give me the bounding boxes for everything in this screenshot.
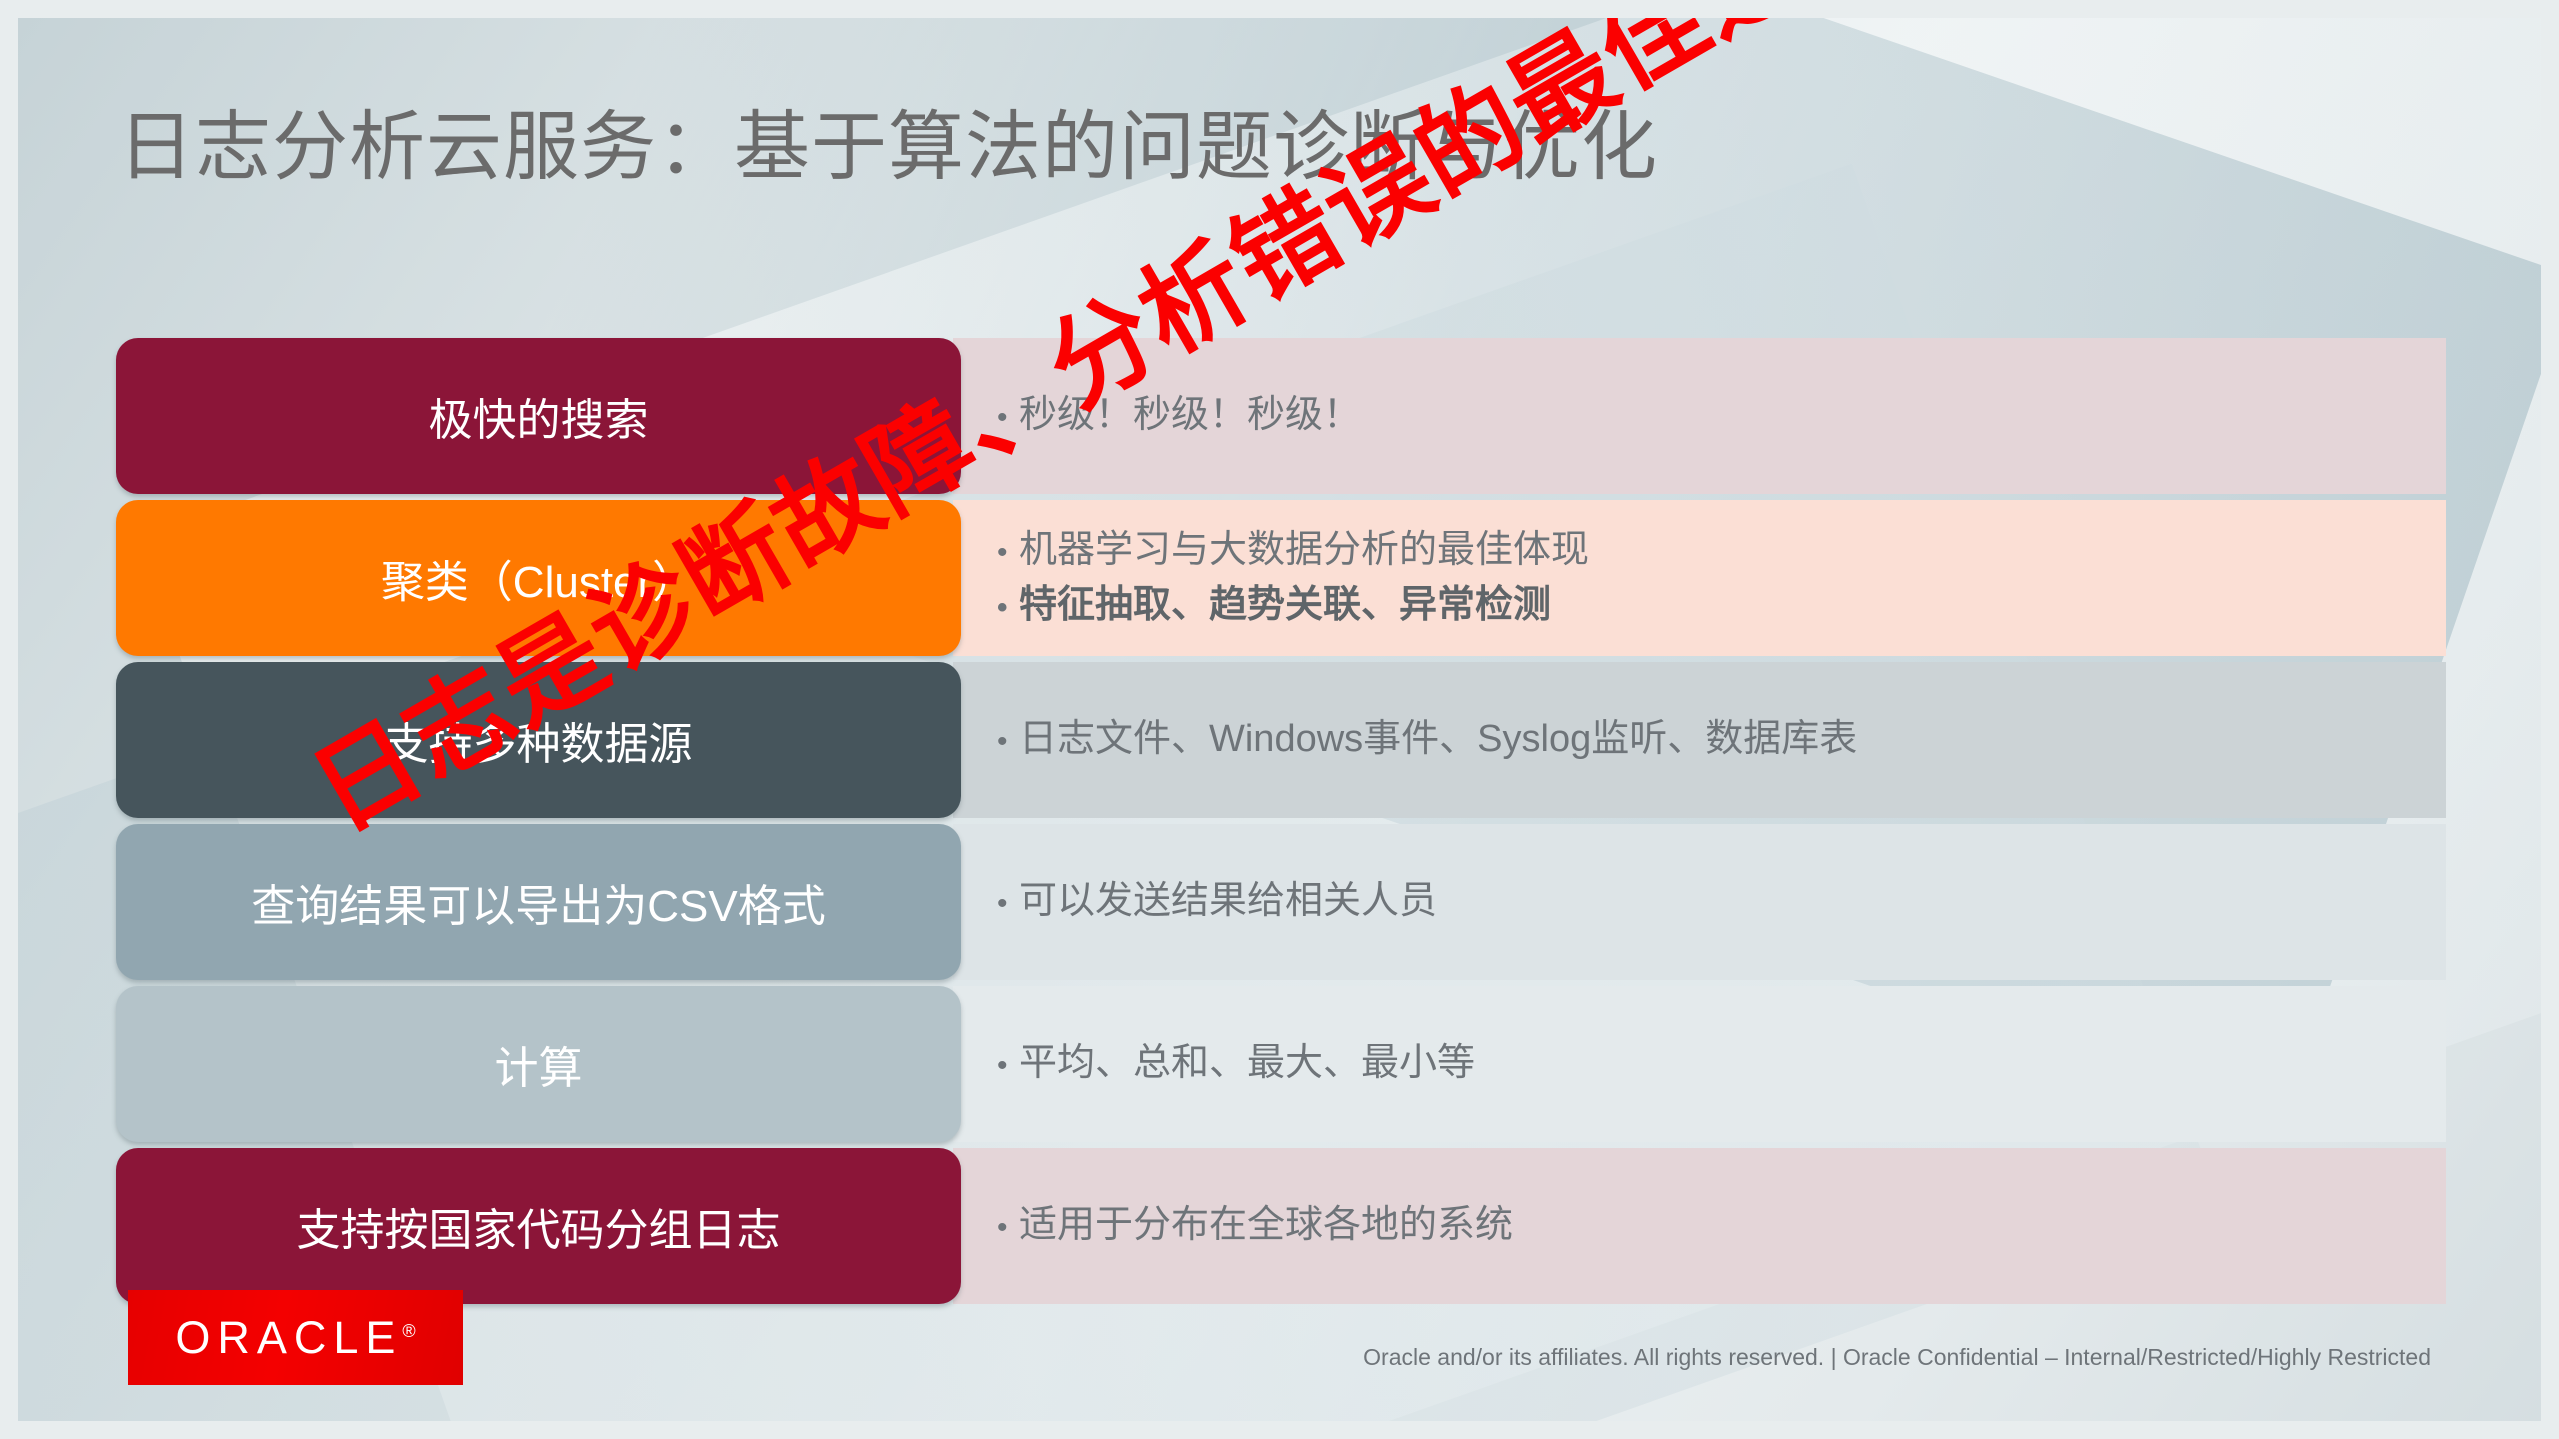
- bullet-text: 适用于分布在全球各地的系统: [1019, 1198, 1513, 1253]
- bullet-item: •可以发送结果给相关人员: [997, 874, 2446, 929]
- bullet-item: •日志文件、Windows事件、Syslog监听、数据库表: [997, 712, 2446, 767]
- bullet-dot-icon: •: [997, 882, 1019, 926]
- bullet-dot-icon: •: [997, 1206, 1019, 1250]
- bullet-text: 特征抽取、趋势关联、异常检测: [1019, 578, 1551, 633]
- feature-row-label[interactable]: 极快的搜索: [116, 338, 961, 494]
- bullet-dot-icon: •: [997, 720, 1019, 764]
- feature-row-label[interactable]: 计算: [116, 986, 961, 1142]
- feature-row-body: • 平均、总和、最大、最小等: [953, 986, 2446, 1142]
- feature-row-list: 极快的搜索•秒级！秒级！秒级！聚类（Cluster）•机器学习与大数据分析的最佳…: [18, 338, 2541, 1310]
- registered-trademark-icon: ®: [402, 1321, 415, 1341]
- bullet-item: •秒级！秒级！秒级！: [997, 388, 2446, 443]
- bullet-dot-icon: •: [997, 531, 1019, 575]
- bullet-text: 平均、总和、最大、最小等: [1019, 1036, 1475, 1091]
- feature-row: 支持多种数据源•日志文件、Windows事件、Syslog监听、数据库表: [18, 662, 2541, 818]
- feature-row-label[interactable]: 聚类（Cluster）: [116, 500, 961, 656]
- feature-row-body: •秒级！秒级！秒级！: [953, 338, 2446, 494]
- bullet-item: •机器学习与大数据分析的最佳体现: [997, 523, 2446, 578]
- feature-row: 支持按国家代码分组日志•适用于分布在全球各地的系统: [18, 1148, 2541, 1304]
- feature-row-body: •可以发送结果给相关人员: [953, 824, 2446, 980]
- feature-row-label-text: 计算: [495, 1032, 583, 1096]
- slide: 日志分析云服务：基于算法的问题诊断与优化 极快的搜索•秒级！秒级！秒级！聚类（C…: [0, 0, 2559, 1439]
- feature-row-body: •日志文件、Windows事件、Syslog监听、数据库表: [953, 662, 2446, 818]
- bullet-item: •适用于分布在全球各地的系统: [997, 1198, 2446, 1253]
- bullet-dot-icon: •: [997, 396, 1019, 440]
- feature-row-label-text: 聚类（Cluster）: [381, 546, 696, 610]
- feature-row-label-text: 支持按国家代码分组日志: [297, 1194, 781, 1258]
- feature-row-label[interactable]: 查询结果可以导出为CSV格式: [116, 824, 961, 980]
- oracle-logo: ORACLE®: [128, 1290, 463, 1385]
- bullet-text: 秒级！秒级！秒级！: [1019, 388, 1361, 443]
- feature-row: 极快的搜索•秒级！秒级！秒级！: [18, 338, 2541, 494]
- footer-confidentiality-note: Oracle and/or its affiliates. All rights…: [1363, 1344, 2431, 1371]
- bullet-text: 日志文件、Windows事件、Syslog监听、数据库表: [1019, 712, 1857, 767]
- bullet-dot-icon: •: [997, 1044, 1019, 1088]
- feature-row-label-text: 查询结果可以导出为CSV格式: [251, 870, 825, 934]
- feature-row: 计算• 平均、总和、最大、最小等: [18, 986, 2541, 1142]
- feature-row-label[interactable]: 支持多种数据源: [116, 662, 961, 818]
- feature-row-label-text: 支持多种数据源: [385, 708, 693, 772]
- feature-row-body: •适用于分布在全球各地的系统: [953, 1148, 2446, 1304]
- slide-title: 日志分析云服务：基于算法的问题诊断与优化: [118, 106, 1658, 190]
- bullet-dot-icon: •: [997, 586, 1019, 630]
- bullet-text: 机器学习与大数据分析的最佳体现: [1019, 523, 1589, 578]
- feature-row: 聚类（Cluster）•机器学习与大数据分析的最佳体现•特征抽取、趋势关联、异常…: [18, 500, 2541, 656]
- feature-row-label-text: 极快的搜索: [429, 384, 649, 448]
- oracle-logo-text: ORACLE®: [175, 1312, 415, 1364]
- feature-row-body: •机器学习与大数据分析的最佳体现•特征抽取、趋势关联、异常检测: [953, 500, 2446, 656]
- bullet-text: 可以发送结果给相关人员: [1019, 874, 1437, 929]
- feature-row: 查询结果可以导出为CSV格式•可以发送结果给相关人员: [18, 824, 2541, 980]
- slide-frame: 日志分析云服务：基于算法的问题诊断与优化 极快的搜索•秒级！秒级！秒级！聚类（C…: [18, 18, 2541, 1421]
- bullet-item: •特征抽取、趋势关联、异常检测: [997, 578, 2446, 633]
- bullet-item: • 平均、总和、最大、最小等: [997, 1036, 2446, 1091]
- oracle-wordmark: ORACLE: [175, 1312, 402, 1363]
- feature-row-label[interactable]: 支持按国家代码分组日志: [116, 1148, 961, 1304]
